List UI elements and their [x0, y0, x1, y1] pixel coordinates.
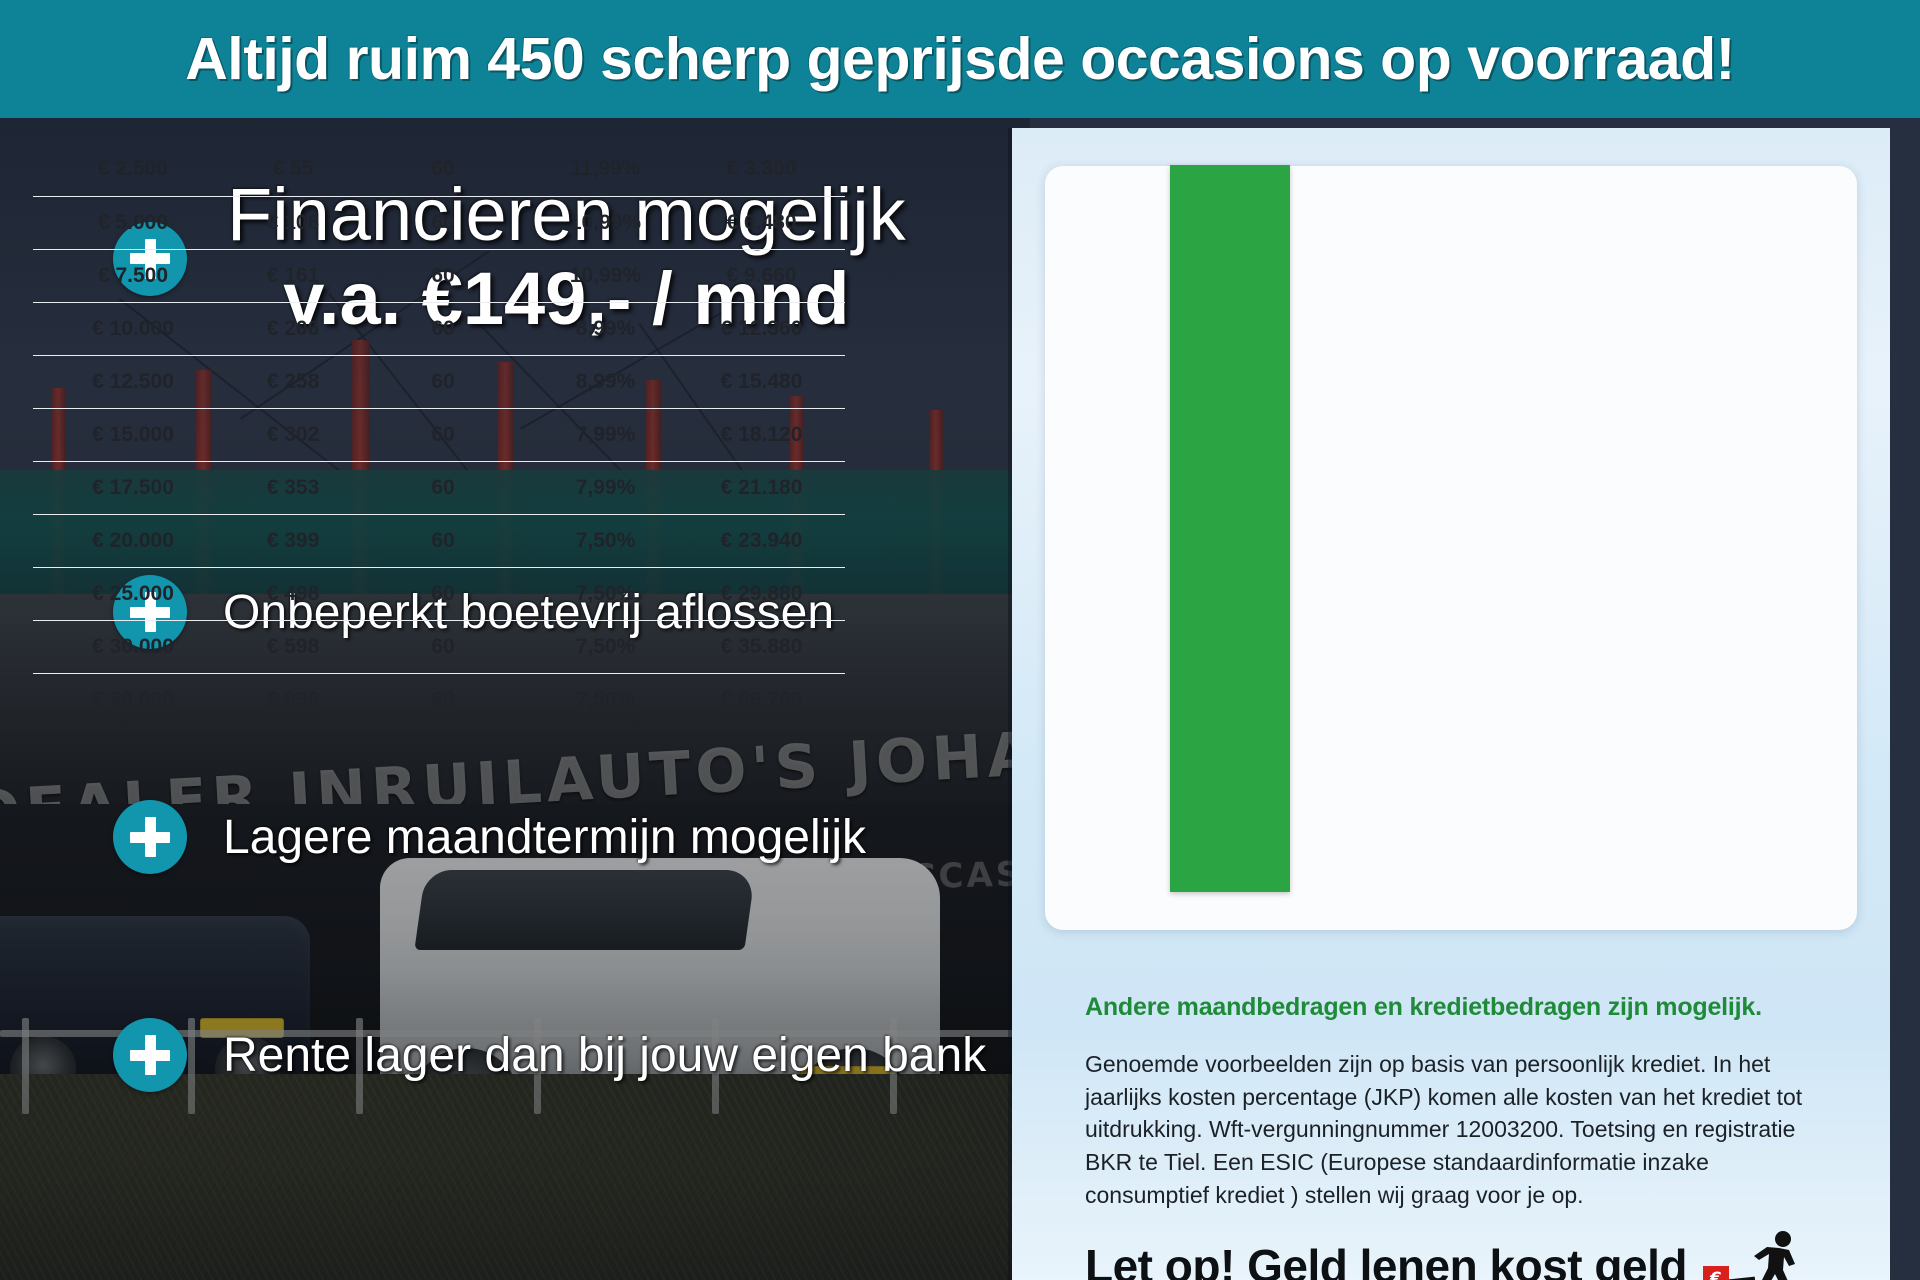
cell-jpk: 7,99% [533, 408, 678, 461]
cell-jpk: 8,99% [533, 355, 678, 408]
cell-krediet: € 25.000 [33, 567, 233, 620]
bullet-label: Rente lager dan bij jouw eigen bank [223, 1028, 986, 1083]
cell-looptijd: 60 [353, 514, 533, 567]
cell-looptijd: 60 [353, 620, 533, 673]
cell-totaal: € 18.120 [678, 408, 845, 461]
cell-termijn: € 399 [233, 514, 353, 567]
cell-termijn: € 108 [233, 196, 353, 249]
cell-totaal: € 59.760 [678, 673, 845, 726]
credit-warning-row: Let op! Geld lenen kost geld € [1085, 1230, 1811, 1280]
cell-totaal: € 35.880 [678, 620, 845, 673]
table-row: € 25.000€ 498607,50%€ 29.880 [33, 567, 845, 620]
cell-krediet: € 5.000 [33, 196, 233, 249]
cell-krediet: € 20.000 [33, 514, 233, 567]
cell-krediet: € 15.000 [33, 408, 233, 461]
cell-termijn: € 161 [233, 249, 353, 302]
cell-totaal: € 9.660 [678, 249, 845, 302]
panel-edge [1008, 128, 1012, 1280]
cell-jpk: 7,99% [533, 461, 678, 514]
cell-looptijd: 60 [353, 408, 533, 461]
cell-looptijd: 60 [353, 567, 533, 620]
credit-warning-text: Let op! Geld lenen kost geld [1085, 1239, 1687, 1280]
headline-text: Altijd ruim 450 scherp geprijsde occasio… [185, 25, 1735, 93]
cell-looptijd: 60 [353, 249, 533, 302]
cell-termijn: € 302 [233, 408, 353, 461]
cell-krediet: € 2.500 [33, 143, 233, 196]
disclaimer-body: Genoemde voorbeelden zijn op basis van p… [1085, 1048, 1815, 1211]
cell-jpk: 7,50% [533, 620, 678, 673]
cell-termijn: € 996 [233, 673, 353, 726]
financing-info-panel: Andere maandbedragen en kredietbedragen … [1012, 128, 1890, 1280]
table-body: € 2.500€ 556011,99%€ 3.300 € 5.000€ 1086… [33, 143, 845, 726]
cell-jpk: 8,99% [533, 302, 678, 355]
cell-termijn: € 55 [233, 143, 353, 196]
table-row: € 7.500€ 1616010,99%€ 9.660 [33, 249, 845, 302]
cell-totaal: € 6.480 [678, 196, 845, 249]
cell-looptijd: 60 [353, 143, 533, 196]
cell-krediet: € 12.500 [33, 355, 233, 408]
cell-krediet: € 30.000 [33, 620, 233, 673]
cell-jpk: 7,50% [533, 673, 678, 726]
cell-looptijd: 60 [353, 461, 533, 514]
cell-krediet: € 10.000 [33, 302, 233, 355]
advertisement-canvas: Altijd ruim 450 scherp geprijsde occasio… [0, 0, 1920, 1280]
cell-jpk: 10,99% [533, 249, 678, 302]
euro-glyph: € [1710, 1271, 1722, 1280]
disclaimer-block: Andere maandbedragen en kredietbedragen … [1085, 993, 1855, 1211]
plus-icon [113, 1018, 187, 1092]
cell-krediet: € 7.500 [33, 249, 233, 302]
table-row: € 2.500€ 556011,99%€ 3.300 [33, 143, 845, 196]
cell-termijn: € 206 [233, 302, 353, 355]
plus-icon [113, 800, 187, 874]
bullet-label: Lagere maandtermijn mogelijk [223, 810, 866, 865]
cell-jpk: 11,99% [533, 143, 678, 196]
table-row: € 50.000€ 996607,50%€ 59.760 [33, 673, 845, 726]
cell-looptijd: 60 [353, 673, 533, 726]
bullet-item-2: Lagere maandtermijn mogelijk [113, 800, 866, 874]
cell-totaal: € 12.360 [678, 302, 845, 355]
table-row: € 10.000€ 206608,99%€ 12.360 [33, 302, 845, 355]
table-row: € 5.000€ 1086010,99%€ 6.480 [33, 196, 845, 249]
table-row: € 17.500€ 353607,99%€ 21.180 [33, 461, 845, 514]
cell-totaal: € 23.940 [678, 514, 845, 567]
cell-jpk: 7,50% [533, 567, 678, 620]
red-money-block: € [1703, 1266, 1729, 1280]
disclaimer-heading: Andere maandbedragen en kredietbedragen … [1085, 993, 1855, 1022]
cell-termijn: € 598 [233, 620, 353, 673]
table-row: € 15.000€ 302607,99%€ 18.120 [33, 408, 845, 461]
cell-looptijd: 60 [353, 302, 533, 355]
cell-totaal: € 29.880 [678, 567, 845, 620]
walking-man-dragging-block-icon: € [1701, 1230, 1811, 1280]
cell-totaal: € 21.180 [678, 461, 845, 514]
bullet-item-3: Rente lager dan bij jouw eigen bank [113, 1018, 986, 1092]
cell-jpk: 7,50% [533, 514, 678, 567]
cell-looptijd: 60 [353, 196, 533, 249]
cell-looptijd: 60 [353, 355, 533, 408]
headline-banner: Altijd ruim 450 scherp geprijsde occasio… [0, 0, 1920, 118]
table-row: € 20.000€ 399607,50%€ 23.940 [33, 514, 845, 567]
cell-termijn: € 498 [233, 567, 353, 620]
cell-jpk: 10,99% [533, 196, 678, 249]
rates-table-card [1045, 166, 1857, 930]
table-row: € 12.500€ 258608,99%€ 15.480 [33, 355, 845, 408]
cell-krediet: € 50.000 [33, 673, 233, 726]
financing-rates-table: Totale kredietbedrag Termijn bedrag Loop… [33, 38, 845, 726]
cell-krediet: € 17.500 [33, 461, 233, 514]
termijn-bedrag-highlight-column [1170, 165, 1290, 892]
table-row: € 30.000€ 598607,50%€ 35.880 [33, 620, 845, 673]
cell-termijn: € 353 [233, 461, 353, 514]
cell-totaal: € 3.300 [678, 143, 845, 196]
cell-totaal: € 15.480 [678, 355, 845, 408]
cell-termijn: € 258 [233, 355, 353, 408]
